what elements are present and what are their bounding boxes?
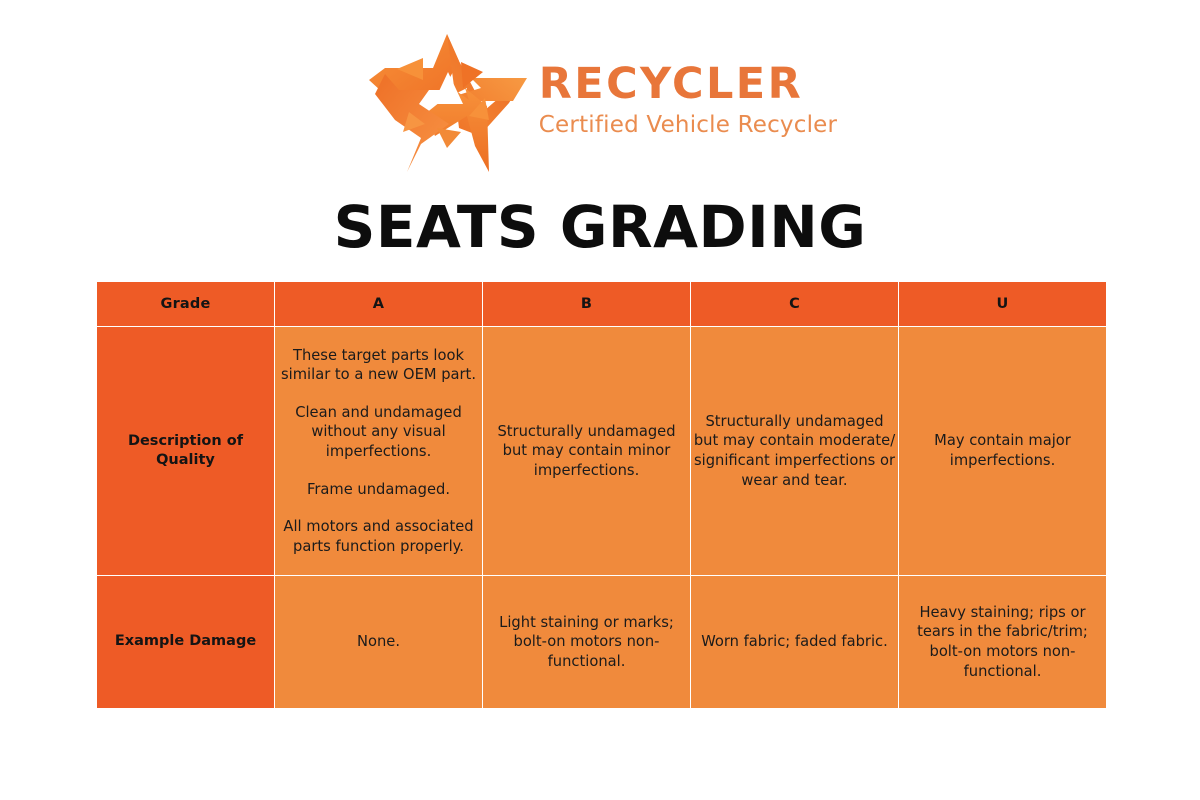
brand-logo: RECYCLER Certified Vehicle Recycler <box>0 28 1200 178</box>
row-label-example-damage: Example Damage <box>97 576 275 709</box>
seats-grading-table: Grade A B C U Description of Quality The… <box>96 281 1107 709</box>
cell-paragraph: Structurally undamaged but may contain m… <box>483 422 690 481</box>
cell-description-b: Structurally undamaged but may contain m… <box>483 327 691 576</box>
brand-logo-text: RECYCLER Certified Vehicle Recycler <box>539 62 837 144</box>
brand-logo-inner: RECYCLER Certified Vehicle Recycler <box>363 28 837 178</box>
cell-paragraph: Frame undamaged. <box>307 480 450 500</box>
cell-paragraph: Light staining or marks; bolt-on motors … <box>483 613 690 672</box>
column-header-grade: Grade <box>97 282 275 327</box>
cell-paragraph: All motors and associated parts function… <box>275 517 482 556</box>
cell-example-b: Light staining or marks; bolt-on motors … <box>483 576 691 709</box>
cell-paragraph: These target parts look similar to a new… <box>275 346 482 385</box>
cell-paragraph: None. <box>357 632 400 652</box>
cell-stack: May contain major imperfections. <box>899 431 1106 470</box>
cell-paragraph: Clean and undamaged without any visual i… <box>275 403 482 462</box>
table-header-row: Grade A B C U <box>97 282 1107 327</box>
column-header-b: B <box>483 282 691 327</box>
cell-example-c: Worn fabric; faded fabric. <box>691 576 899 709</box>
table-body: Description of Quality These target part… <box>97 327 1107 709</box>
cell-stack: None. <box>275 632 482 652</box>
cell-description-u: May contain major imperfections. <box>899 327 1107 576</box>
cell-stack: Structurally undamaged but may contain m… <box>691 412 898 490</box>
cell-description-a: These target parts look similar to a new… <box>275 327 483 576</box>
column-header-c: C <box>691 282 899 327</box>
brand-tagline: Certified Vehicle Recycler <box>539 113 837 138</box>
column-header-u: U <box>899 282 1107 327</box>
cell-paragraph: Worn fabric; faded fabric. <box>701 632 888 652</box>
cell-description-c: Structurally undamaged but may contain m… <box>691 327 899 576</box>
cell-example-u: Heavy staining; rips or tears in the fab… <box>899 576 1107 709</box>
cell-stack: These target parts look similar to a new… <box>275 346 482 556</box>
table-header: Grade A B C U <box>97 282 1107 327</box>
table-row: Example Damage None. Light staining or m… <box>97 576 1107 709</box>
recycling-star-icon <box>363 28 533 178</box>
cell-stack: Heavy staining; rips or tears in the fab… <box>899 603 1106 681</box>
cell-paragraph: Heavy staining; rips or tears in the fab… <box>899 603 1106 681</box>
cell-stack: Light staining or marks; bolt-on motors … <box>483 613 690 672</box>
grading-sheet-page: RECYCLER Certified Vehicle Recycler SEAT… <box>0 0 1200 800</box>
cell-paragraph: May contain major imperfections. <box>899 431 1106 470</box>
cell-paragraph: Structurally undamaged but may contain m… <box>691 412 898 490</box>
cell-example-a: None. <box>275 576 483 709</box>
cell-stack: Structurally undamaged but may contain m… <box>483 422 690 481</box>
column-header-a: A <box>275 282 483 327</box>
table-row: Description of Quality These target part… <box>97 327 1107 576</box>
page-title: SEATS GRADING <box>0 193 1200 261</box>
cell-stack: Worn fabric; faded fabric. <box>691 632 898 652</box>
row-label-description-of-quality: Description of Quality <box>97 327 275 576</box>
brand-wordmark: RECYCLER <box>539 62 837 107</box>
